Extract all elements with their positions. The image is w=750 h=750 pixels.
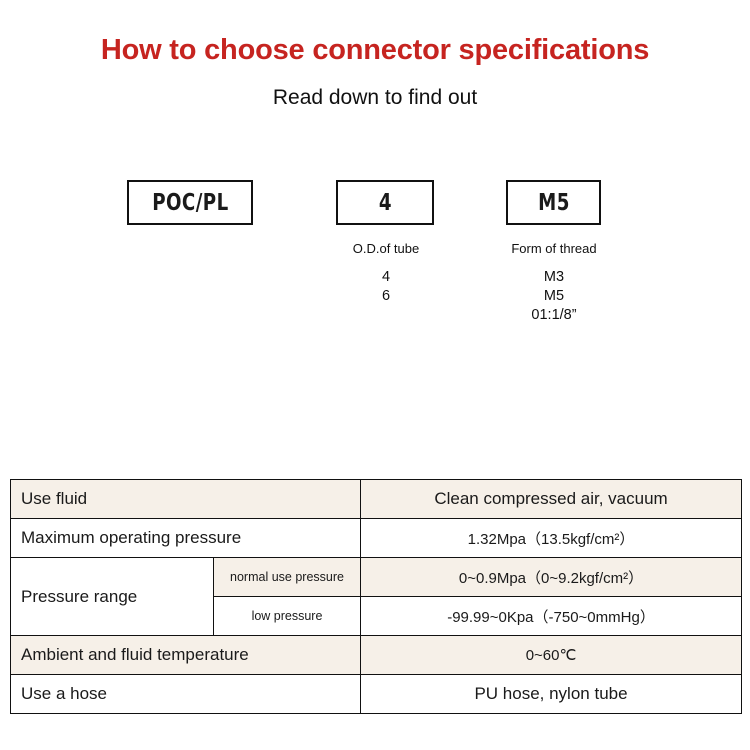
code-box-thread: M5 (506, 180, 601, 225)
option-column-od-of-tube: O.D.of tube 4 6 (326, 241, 446, 306)
option-column-od-heading: O.D.of tube (326, 241, 446, 257)
spec-value: 0~60℃ (361, 636, 742, 675)
spec-label: Maximum operating pressure (11, 519, 361, 558)
spec-sublabel: normal use pressure (214, 558, 361, 597)
spec-label: Use a hose (11, 675, 361, 714)
spec-value: -99.99~0Kpa（-750~0mmHg） (361, 597, 742, 636)
spec-value: 1.32Mpa（13.5kgf/cm²） (361, 519, 742, 558)
option-column-form-of-thread: Form of thread M3 M5 01:1/8” (490, 241, 618, 325)
spec-label: Ambient and fluid temperature (11, 636, 361, 675)
code-box-series: POC/PL (127, 180, 253, 225)
specification-table: Use fluid Clean compressed air, vacuum M… (10, 479, 742, 714)
spec-value: Clean compressed air, vacuum (361, 480, 742, 519)
spec-label: Use fluid (11, 480, 361, 519)
page-subtitle: Read down to find out (0, 86, 750, 110)
option-item: M3 (490, 268, 618, 287)
code-box-od: 4 (336, 180, 434, 225)
code-box-series-value: POC/PL (152, 190, 228, 216)
spec-label: Pressure range (11, 558, 214, 636)
option-item: 01:1/8” (490, 306, 618, 325)
table-row: Use a hose PU hose, nylon tube (11, 675, 742, 714)
table-row: Pressure range normal use pressure 0~0.9… (11, 558, 742, 597)
option-list-od: 4 6 (326, 268, 446, 306)
option-item: 4 (326, 268, 446, 287)
table-row: Maximum operating pressure 1.32Mpa（13.5k… (11, 519, 742, 558)
option-list-thread: M3 M5 01:1/8” (490, 268, 618, 325)
option-column-thread-heading: Form of thread (490, 241, 618, 257)
table-row: Ambient and fluid temperature 0~60℃ (11, 636, 742, 675)
spec-value: PU hose, nylon tube (361, 675, 742, 714)
table-row: Use fluid Clean compressed air, vacuum (11, 480, 742, 519)
spec-value: 0~0.9Mpa（0~9.2kgf/cm²） (361, 558, 742, 597)
code-box-od-value: 4 (378, 190, 391, 216)
code-box-thread-value: M5 (538, 190, 570, 216)
spec-sublabel: low pressure (214, 597, 361, 636)
option-item: 6 (326, 287, 446, 306)
option-item: M5 (490, 287, 618, 306)
page-title: How to choose connector specifications (0, 34, 750, 67)
